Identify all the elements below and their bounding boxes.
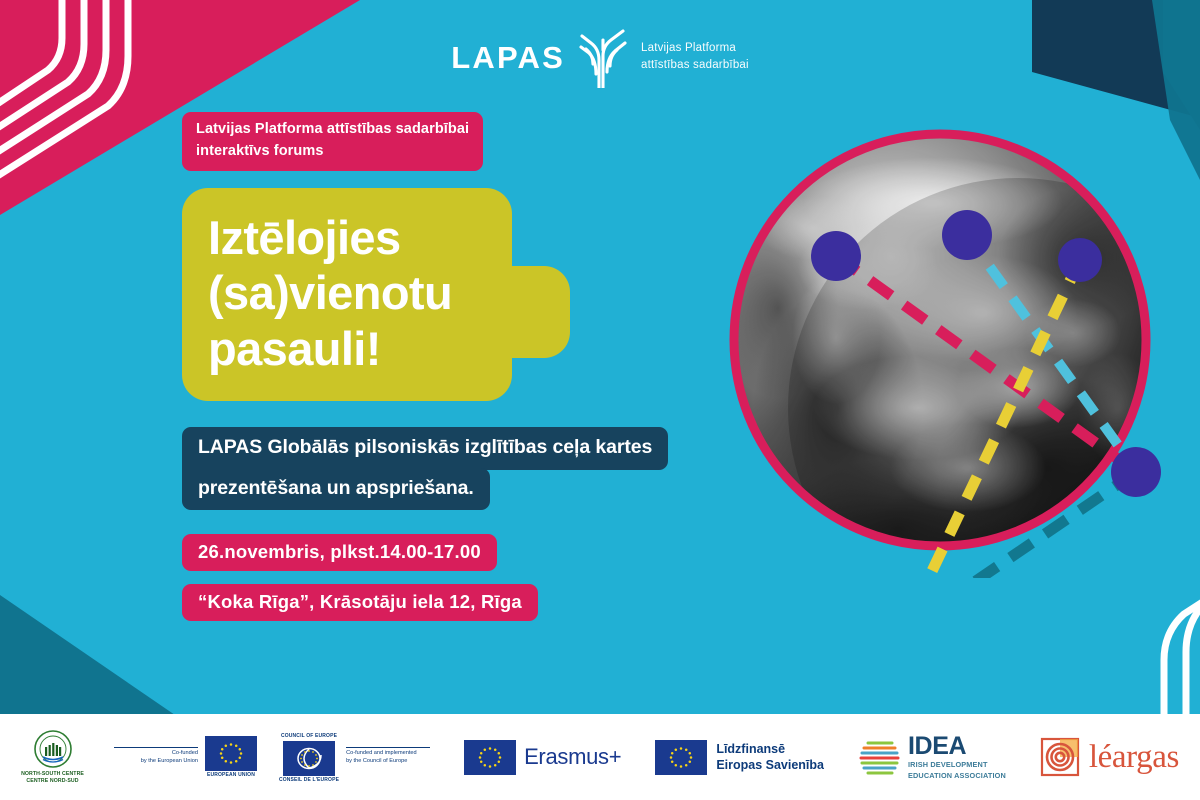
- coe-caption-text: Co-funded and implemented by the Council…: [346, 750, 430, 768]
- idea-sub-line1: IRISH DEVELOPMENT: [908, 760, 1006, 769]
- idea-logo: IDEA IRISH DEVELOPMENT EDUCATION ASSOCIA…: [858, 734, 1006, 779]
- idea-text: IDEA IRISH DEVELOPMENT EDUCATION ASSOCIA…: [908, 734, 1006, 779]
- idea-main-text: IDEA: [908, 734, 1006, 759]
- eu-caption-line2: by the European Union: [114, 758, 198, 766]
- idea-sub-line2: EDUCATION ASSOCIATION: [908, 771, 1006, 780]
- globe-node-4: [1111, 447, 1161, 497]
- coe-flag-top-label: COUNCIL OF EUROPE: [281, 733, 337, 739]
- description-block: LAPAS Globālās pilsoniskās izglītības ce…: [182, 427, 722, 510]
- headline-line1: Iztēlojies: [208, 210, 486, 266]
- headline-block: Iztēlojies (sa)vienotu pasauli!: [182, 188, 512, 402]
- eu-caption-line1: Co-funded: [114, 750, 198, 758]
- lapas-tree-icon: [579, 26, 627, 88]
- erasmus-plus-text: Erasmus+: [524, 744, 621, 770]
- description-line2: prezentēšana un apspriešana.: [182, 468, 490, 510]
- north-south-centre-caption: NORTH-SOUTH CENTRE CENTRE NORD-SUD: [21, 771, 84, 785]
- coe-caption-line1: Co-funded and implemented: [346, 750, 430, 758]
- north-south-centre-logo: NORTH-SOUTH CENTRE CENTRE NORD-SUD: [21, 729, 84, 785]
- erasmus-plus-logo: Erasmus+: [464, 740, 621, 775]
- event-date: 26.novembris, plkst.14.00-17.00: [182, 534, 497, 571]
- eyebrow-tag: Latvijas Platforma attīstības sadarbībai…: [182, 112, 483, 171]
- event-location: “Koka Rīga”, Krāsotāju iela 12, Rīga: [182, 584, 538, 621]
- leargas-text: léargas: [1089, 741, 1179, 774]
- co-funded-eu-caption: Co-funded by the European Union: [114, 747, 198, 768]
- council-of-europe-flag-icon: [283, 741, 335, 776]
- description-line1: LAPAS Globālās pilsoniskās izglītības ce…: [182, 427, 668, 469]
- globe-node-3: [1058, 238, 1102, 282]
- lidzfinanse-line2: Eiropas Savienība: [716, 757, 824, 773]
- eyebrow-line2: interaktīvs forums: [196, 141, 469, 163]
- headline-line3: pasauli!: [208, 321, 486, 377]
- lapas-tagline: Latvijas Platforma attīstības sadarbībai: [641, 40, 749, 73]
- eu-caption-text: Co-funded by the European Union: [114, 750, 198, 768]
- erasmus-eu-flag-icon: [464, 740, 516, 775]
- co-funded-eu-logo: Co-funded by the European Union: [114, 736, 257, 779]
- footer-logo-strip: NORTH-SOUTH CENTRE CENTRE NORD-SUD Co-fu…: [0, 714, 1200, 800]
- coe-caption-rule: [346, 747, 430, 748]
- bottom-right-stripes: [1164, 568, 1200, 720]
- bottom-left-teal-triangle: [0, 595, 175, 715]
- lapas-wordmark: LAPAS: [451, 42, 565, 73]
- globe-graphic: [718, 108, 1178, 578]
- headline-line2: (sa)vienotu: [208, 265, 486, 321]
- globe-node-1: [811, 231, 861, 281]
- eyebrow-line1: Latvijas Platforma attīstības sadarbībai: [196, 119, 469, 141]
- north-south-centre-emblem: [33, 729, 73, 769]
- leargas-spiral-icon: [1040, 737, 1080, 777]
- poster-canvas: LAPAS Latvijas Platforma attīstības sada…: [0, 0, 1200, 800]
- ns-caption-line2: CENTRE NORD-SUD: [21, 778, 84, 785]
- coe-flag-label: CONSEIL DE L'EUROPE: [279, 777, 339, 783]
- lidzfinanse-eu-flag-icon: [655, 740, 707, 775]
- ns-caption-line1: NORTH-SOUTH CENTRE: [21, 771, 84, 778]
- coe-caption-line2: by the Council of Europe: [346, 758, 430, 766]
- caption-rule: [114, 747, 198, 748]
- globe-node-2: [942, 210, 992, 260]
- lapas-tagline-line1: Latvijas Platforma: [641, 40, 749, 57]
- lapas-tagline-line2: attīstības sadarbībai: [641, 57, 749, 74]
- lidzfinanse-eu-logo: Līdzfinansē Eiropas Savienība: [655, 740, 824, 775]
- poster-content: Latvijas Platforma attīstības sadarbībai…: [182, 112, 742, 621]
- coe-caption: Co-funded and implemented by the Council…: [346, 747, 430, 768]
- council-of-europe-logo: COUNCIL OF EUROPE: [279, 731, 430, 783]
- leargas-logo: léargas: [1040, 737, 1179, 777]
- idea-globe-icon: [858, 735, 902, 779]
- eu-flag-label: EUROPEAN UNION: [207, 772, 255, 778]
- lidzfinanse-line1: Līdzfinansē: [716, 741, 824, 757]
- lidzfinanse-text: Līdzfinansē Eiropas Savienība: [716, 741, 824, 774]
- lapas-logo: LAPAS Latvijas Platforma attīstības sada…: [0, 26, 1200, 88]
- eu-flag-icon: [205, 736, 257, 771]
